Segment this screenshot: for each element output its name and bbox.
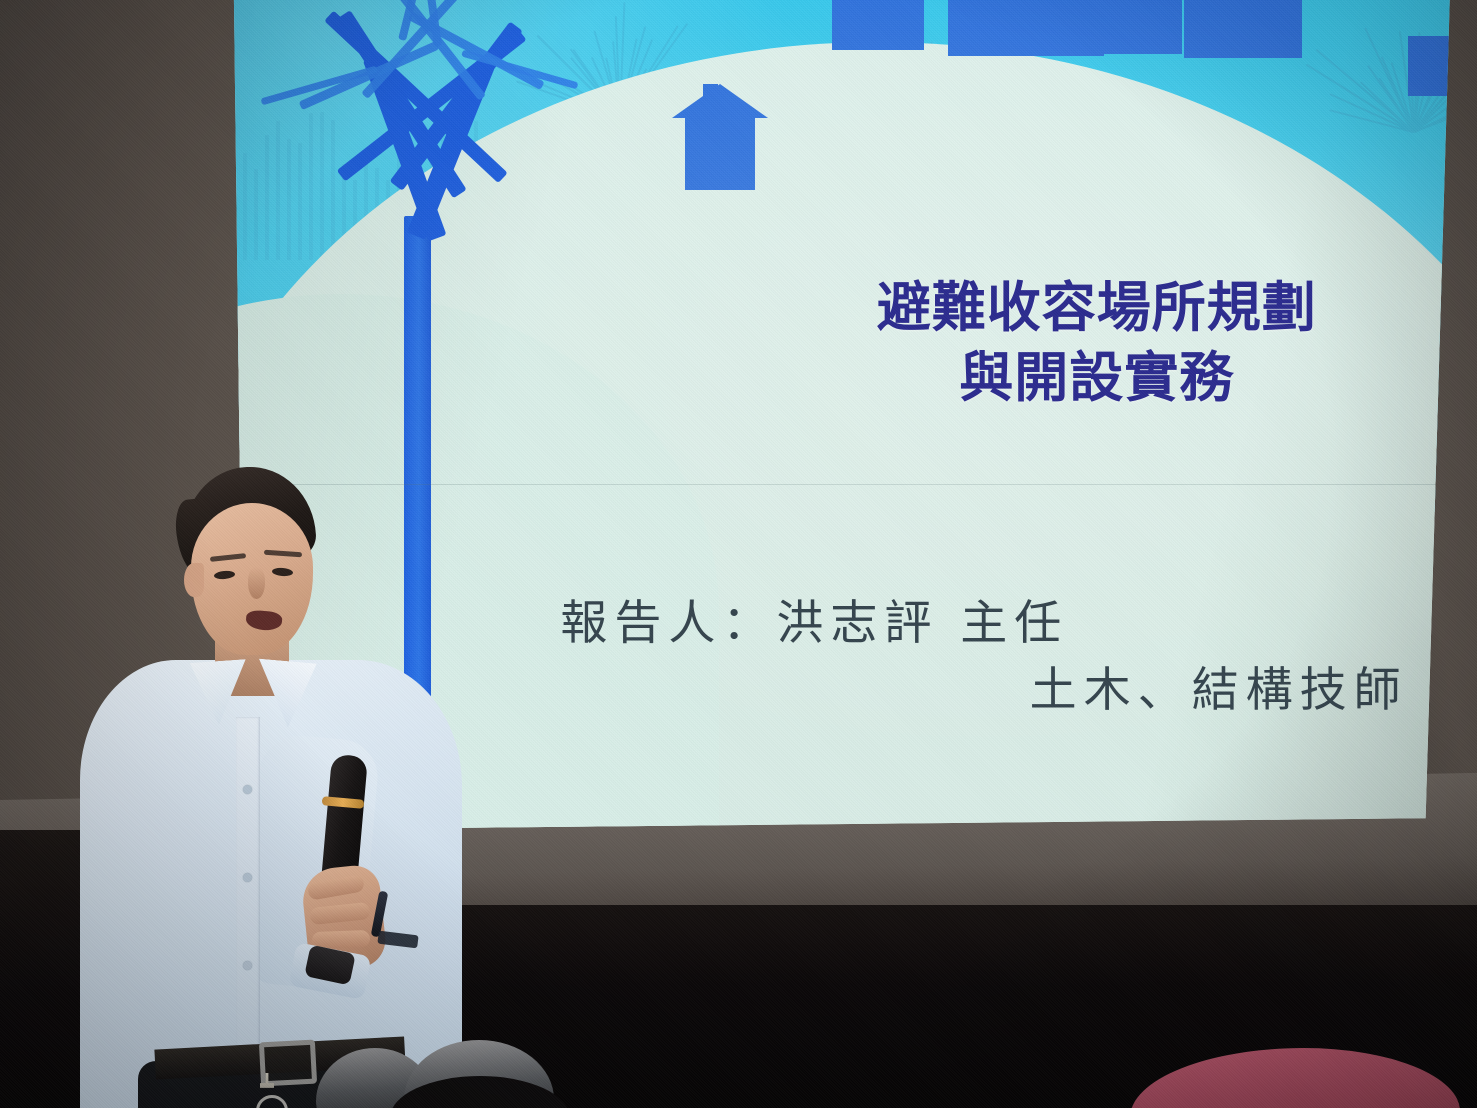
house-icon <box>685 118 755 190</box>
house-icon <box>1408 36 1450 96</box>
photo-scene: 避難收容場所規劃 與開設實務 報告人：洪志評 主任 土木、結構技師 <box>0 0 1477 1108</box>
speaker-ear <box>184 563 204 597</box>
house-icon <box>832 0 924 50</box>
slide-title-line-2: 與開設實務 <box>768 343 1426 413</box>
presenter-title-line: 土木、結構技師 <box>524 658 1425 725</box>
slide-title: 避難收容場所規劃 與開設實務 <box>768 273 1426 413</box>
speaker-figure <box>60 455 480 1108</box>
presenter-name-line: 報告人：洪志評 主任 <box>524 591 1425 658</box>
house-icon <box>1094 0 1182 54</box>
speaker-nose <box>248 567 265 599</box>
house-icon <box>1184 0 1302 58</box>
slide-title-line-1: 避難收容場所規劃 <box>877 276 1317 339</box>
house-icon <box>948 0 1104 56</box>
slide-presenter-block: 報告人：洪志評 主任 土木、結構技師 <box>524 591 1425 724</box>
